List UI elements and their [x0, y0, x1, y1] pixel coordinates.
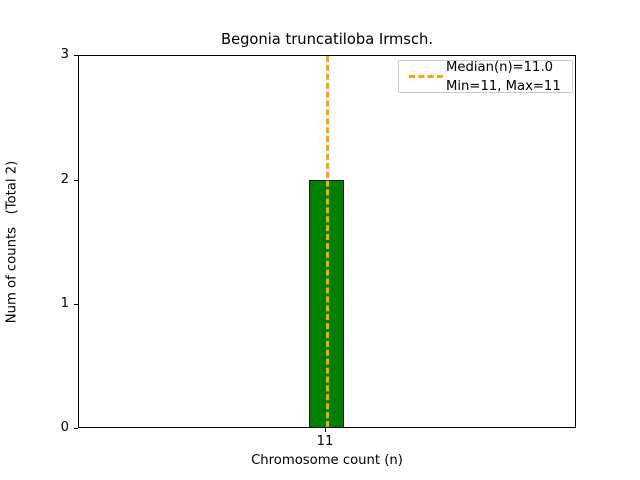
y-tick-label-3: 3 [61, 48, 69, 61]
y-tick-label-2: 2 [61, 173, 69, 186]
chart-title: Begonia truncatiloba Irmsch. [78, 31, 576, 48]
y-axis-label-wrap: Num of counts (Total 2) [0, 55, 24, 428]
legend-swatch-cell [406, 75, 446, 78]
matplotlib-figure: Begonia truncatiloba Irmsch. 0 1 2 3 11 … [0, 0, 640, 480]
legend: Median(n)=11.0 Min=11, Max=11 [398, 60, 573, 93]
x-tick-label-11: 11 [317, 434, 334, 449]
x-tick-mark-11 [325, 428, 326, 432]
plot-area [78, 55, 576, 428]
median-line [326, 56, 329, 427]
y-tick-label-0: 0 [61, 421, 69, 434]
x-axis-label: Chromosome count (n) [78, 453, 576, 469]
y-tick-mark-0 [74, 428, 78, 429]
legend-label-minmax: Min=11, Max=11 [446, 77, 565, 96]
legend-entry-median: Median(n)=11.0 Min=11, Max=11 [406, 67, 565, 86]
plot-clip [79, 56, 575, 427]
dashed-line-icon [409, 75, 443, 78]
legend-text-column: Median(n)=11.0 Min=11, Max=11 [446, 58, 565, 96]
legend-label-median: Median(n)=11.0 [446, 58, 565, 77]
y-tick-label-1: 1 [61, 297, 69, 310]
y-axis-label: Num of counts (Total 2) [5, 160, 20, 323]
